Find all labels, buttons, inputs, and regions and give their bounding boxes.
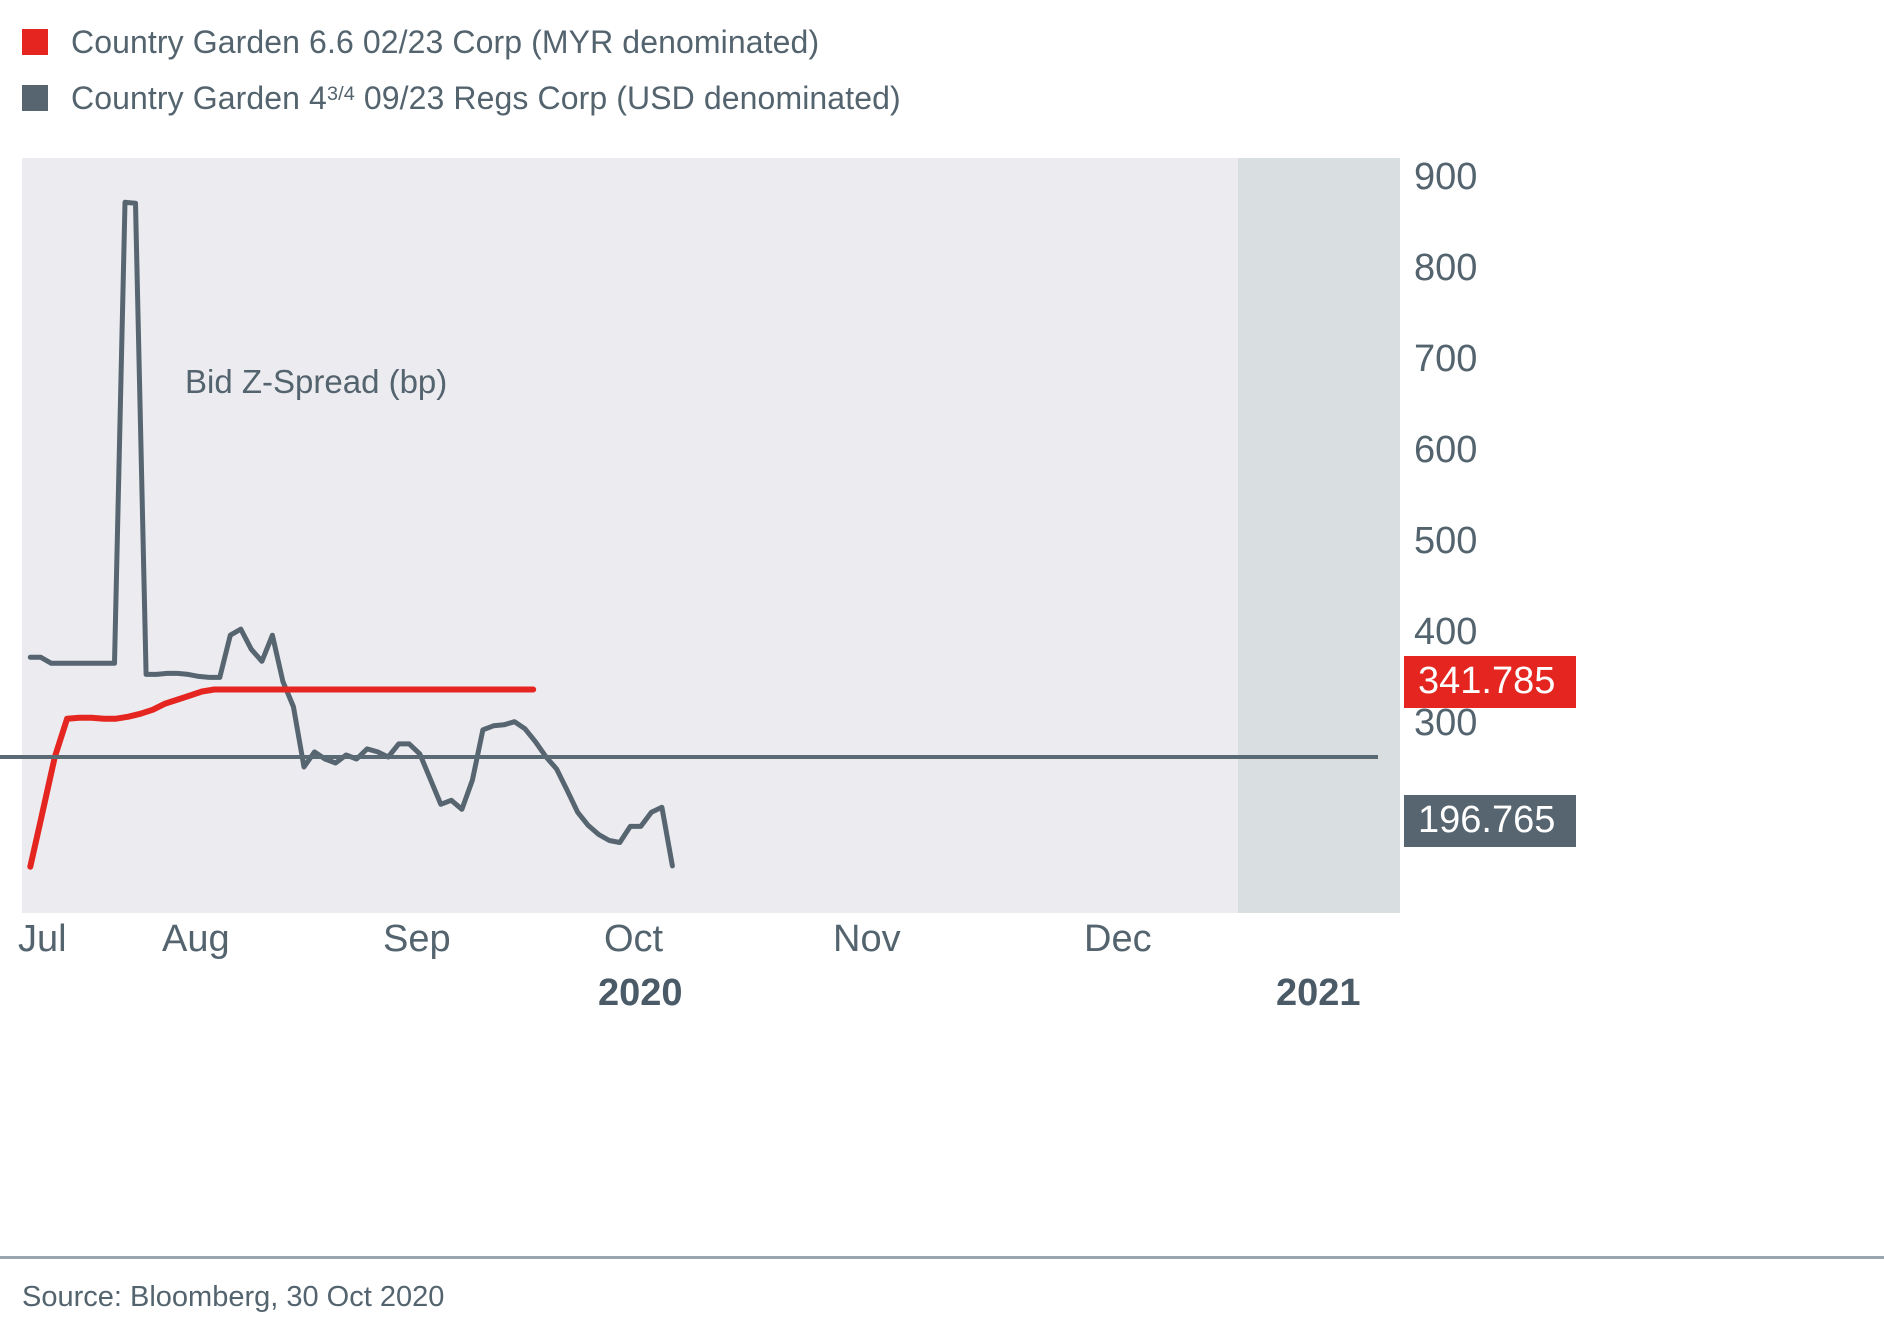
red-value-badge: 341.785 (1404, 656, 1576, 708)
legend-label-myr: Country Garden 6.6 02/23 Corp (MYR denom… (71, 23, 819, 61)
y-tick-700: 700 (1414, 340, 1477, 378)
x-tick-jul: Jul (18, 917, 67, 961)
legend-swatch-red-icon (22, 29, 48, 55)
y-tick-800: 800 (1414, 249, 1477, 287)
chart-legend: Country Garden 6.6 02/23 Corp (MYR denom… (22, 14, 1422, 126)
y-tick-500: 500 (1414, 522, 1477, 560)
legend-label-usd: Country Garden 43/4 09/23 Regs Corp (USD… (71, 79, 901, 117)
x-axis: Jul Aug Sep Oct Nov Dec 2020 2021 (0, 917, 1884, 1047)
year-label-2021: 2021 (1276, 971, 1361, 1015)
series-line-myr (30, 690, 533, 867)
legend-label-usd-part-b: 09/23 Regs Corp (USD denominated) (355, 80, 901, 116)
x-axis-baseline (0, 755, 1378, 759)
slate-value-badge: 196.765 (1404, 795, 1576, 847)
legend-label-usd-fraction: 3/4 (327, 83, 355, 105)
legend-label-usd-part-a: Country Garden 4 (71, 80, 327, 116)
x-tick-aug: Aug (162, 917, 230, 961)
y-tick-400: 400 (1414, 613, 1477, 651)
y-axis: 900 800 700 600 500 400 300 341.785 196.… (1404, 158, 1884, 918)
legend-item-usd: Country Garden 43/4 09/23 Regs Corp (USD… (22, 70, 1422, 126)
year-label-2020: 2020 (598, 971, 683, 1015)
footer-divider (0, 1256, 1884, 1259)
y-tick-600: 600 (1414, 431, 1477, 469)
x-tick-oct: Oct (604, 917, 663, 961)
chart-plot-area: Bid Z-Spread (bp) (22, 158, 1400, 913)
y-tick-900: 900 (1414, 158, 1477, 196)
legend-swatch-slate-icon (22, 85, 48, 111)
legend-item-myr: Country Garden 6.6 02/23 Corp (MYR denom… (22, 14, 1422, 70)
x-tick-dec: Dec (1084, 917, 1152, 961)
plot-annotation-bid-z-spread: Bid Z-Spread (bp) (185, 363, 447, 401)
x-tick-nov: Nov (833, 917, 901, 961)
series-line-usd (30, 202, 672, 866)
y-tick-300: 300 (1414, 704, 1477, 742)
x-tick-sep: Sep (383, 917, 451, 961)
source-note: Source: Bloomberg, 30 Oct 2020 (22, 1280, 444, 1314)
chart-series-svg (22, 158, 1400, 913)
